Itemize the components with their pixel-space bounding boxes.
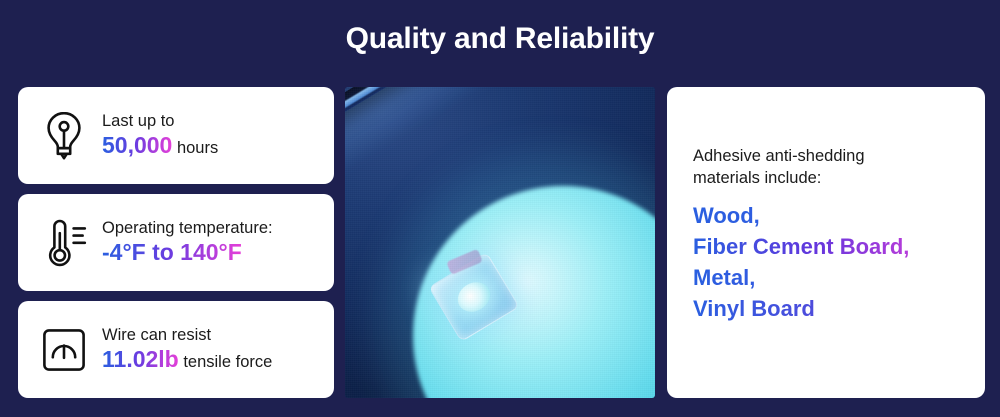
feature-card-tensile: Wire can resist 11.02lb tensile force (18, 301, 334, 398)
thermometer-icon (36, 214, 92, 272)
feature-value: 11.02lb (102, 346, 179, 372)
feature-unit: hours (177, 139, 218, 157)
feature-value-row: 11.02lb tensile force (102, 347, 272, 373)
feature-value-row: -4°F to 140°F (102, 240, 273, 266)
material-item: Fiber Cement Board, (693, 231, 963, 262)
material-item: Wood, (693, 200, 963, 231)
material-item: Vinyl Board (693, 293, 963, 324)
gauge-icon (36, 321, 92, 379)
material-item: Metal, (693, 262, 963, 293)
feature-unit: tensile force (183, 353, 272, 371)
feature-value-row: 50,000 hours (102, 133, 218, 159)
lightbulb-icon (36, 107, 92, 165)
quality-reliability-banner: Quality and Reliability Last up to 50,00… (0, 0, 1000, 417)
materials-intro-text: Adhesive anti-shedding materials include… (693, 145, 908, 190)
materials-panel: Adhesive anti-shedding materials include… (667, 87, 985, 398)
page-title: Quality and Reliability (0, 22, 1000, 56)
feature-card-temperature: Operating temperature: -4°F to 140°F (18, 194, 334, 291)
feature-label: Wire can resist (102, 326, 272, 344)
feature-card-list: Last up to 50,000 hours Operating temper… (18, 87, 334, 398)
feature-card-text: Operating temperature: -4°F to 140°F (102, 219, 273, 265)
product-photo (345, 87, 655, 398)
feature-card-lifespan: Last up to 50,000 hours (18, 87, 334, 184)
feature-label: Last up to (102, 112, 218, 130)
photo-led-emitter (452, 276, 496, 318)
feature-value: -4°F to 140°F (102, 239, 242, 265)
feature-card-text: Last up to 50,000 hours (102, 112, 218, 158)
feature-value: 50,000 (102, 132, 172, 158)
materials-list: Wood, Fiber Cement Board, Metal, Vinyl B… (693, 200, 963, 325)
feature-card-text: Wire can resist 11.02lb tensile force (102, 326, 272, 372)
feature-label: Operating temperature: (102, 219, 273, 237)
